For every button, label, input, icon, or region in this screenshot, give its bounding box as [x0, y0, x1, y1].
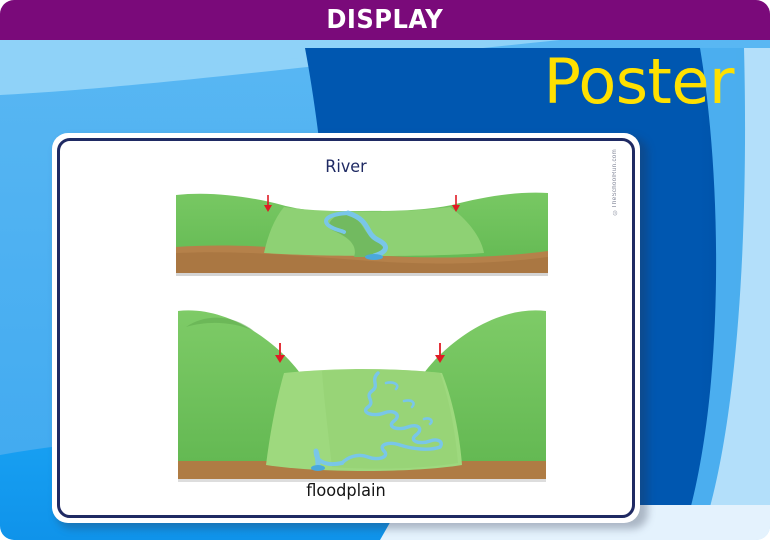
poster-screenshot: DISPLAY Poster River ©TheSchoolRun.com [0, 0, 770, 540]
page-title: Poster [544, 51, 734, 113]
poster-card-inner: River ©TheSchoolRun.com [57, 138, 635, 518]
header-title: DISPLAY [327, 5, 444, 35]
diagram-wide-valley-floodplain [172, 301, 552, 491]
floodplain-label: floodplain [74, 481, 617, 501]
credit-watermark: ©TheSchoolRun.com [612, 149, 618, 215]
poster-card[interactable]: River ©TheSchoolRun.com [52, 133, 640, 523]
display-header-bar: DISPLAY [0, 0, 770, 40]
diagram-narrow-valley [172, 183, 552, 283]
river-label: River [77, 157, 615, 177]
